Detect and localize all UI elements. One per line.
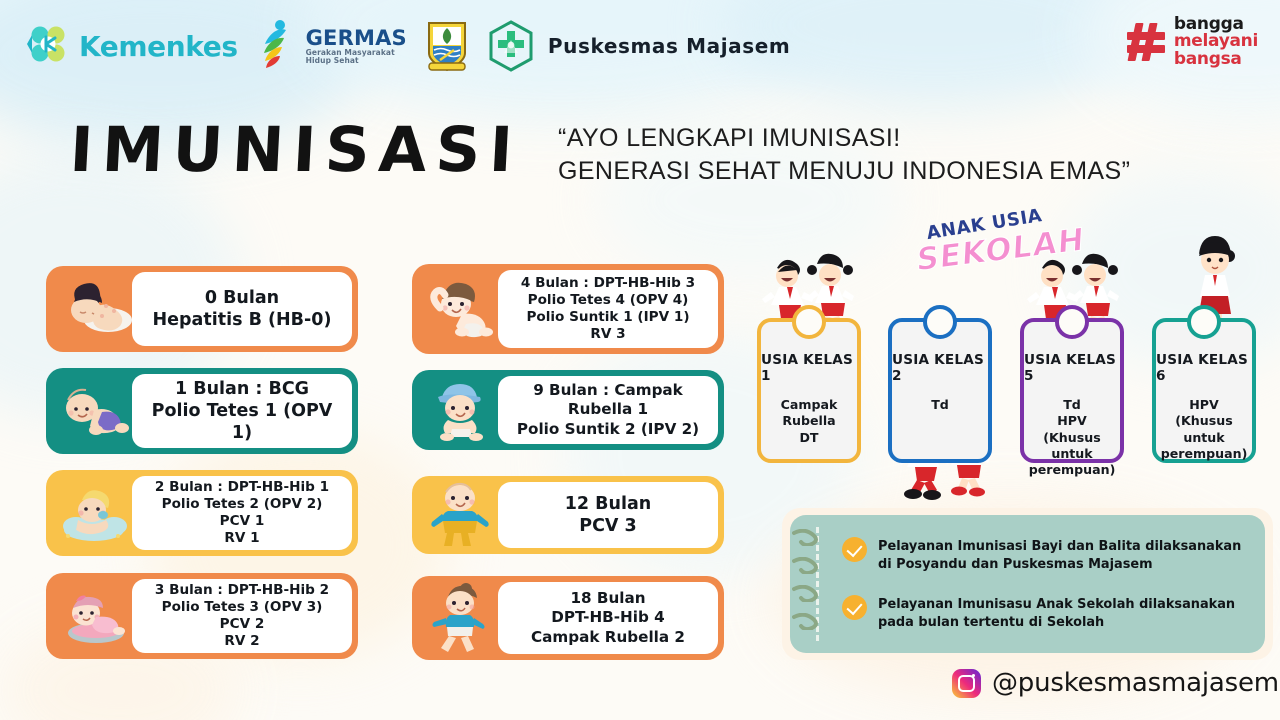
school-card-line: perempuan) [1029,462,1116,478]
card-line: 12 Bulan [565,493,652,515]
card-text-panel: 9 Bulan : Campak Rubella 1Polio Suntik 2… [498,376,718,444]
school-card-title: USIA KELAS 6 [1156,352,1252,384]
instagram-icon [952,669,981,698]
kemenkes-logo: Kemenkes [26,23,238,69]
school-card-line: HPV (Khusus [1161,397,1248,430]
instagram-handle: @puskesmasmajasem [992,668,1279,698]
card-text-panel: 3 Bulan : DPT-HB-Hib 2Polio Tetes 3 (OPV… [132,579,352,653]
school-card-line: HPV (Khusus [1029,413,1116,446]
card-text-panel: 4 Bulan : DPT-HB-Hib 3Polio Tetes 4 (OPV… [498,270,718,348]
card-line: DPT-HB-Hib 4 [531,608,685,627]
spiral-binding-icon [792,529,826,546]
card-line: Polio Tetes 3 (OPV 3) [155,599,329,616]
baby-on-cloud-icon [54,476,138,550]
germas-subtitle-line2: Hidup Sehat [306,57,407,65]
card-knob [792,305,826,339]
puskesmas-name: Puskesmas Majasem [548,34,791,58]
check-circle-icon [842,595,867,620]
imunisasi-poster: Kemenkes GERMAS Gerakan Masyarakat Hidup [0,0,1280,720]
card-line: Polio Tetes 1 (OPV 1) [140,400,344,444]
school-card-line: untuk [1029,446,1116,462]
card-text-panel: 12 BulanPCV 3 [498,482,718,548]
germas-title: GERMAS [306,28,407,49]
card-knob [923,305,957,339]
card-lines: 4 Bulan : DPT-HB-Hib 3Polio Tetes 4 (OPV… [513,275,703,344]
sleeping-baby-icon [54,272,138,346]
card-line: Polio Tetes 4 (OPV 4) [521,292,695,309]
school-card-line: Td [1029,397,1116,413]
germas-logo: GERMAS Gerakan Masyarakat Hidup Sehat [256,18,407,74]
school-card-body: HPV (Khususuntukperempuan) [1156,397,1253,462]
card-line: RV 3 [521,326,695,343]
header: Kemenkes GERMAS Gerakan Masyarakat Hidup [0,0,1280,92]
hash-icon [1126,21,1166,63]
card-line: RV 1 [155,530,329,547]
schedule-card-card-1-bulan: 1 Bulan : BCGPolio Tetes 1 (OPV 1) [46,368,358,454]
school-card-kelas-2: USIA KELAS 2Td [888,318,992,463]
card-knob [1055,305,1089,339]
card-line: Polio Suntik 2 (IPV 2) [506,420,710,439]
germas-text: GERMAS Gerakan Masyarakat Hidup Sehat [306,28,407,65]
schedule-card-card-2-bulan: 2 Bulan : DPT-HB-Hib 1Polio Tetes 2 (OPV… [46,470,358,556]
logo-group: Kemenkes GERMAS Gerakan Masyarakat Hidup [26,14,790,78]
note-item: Pelayanan Imunisasi Bayi dan Balita dila… [842,537,1254,575]
spiral-binding-icon [792,557,826,574]
card-text-panel: 0 BulanHepatitis B (HB-0) [132,272,352,346]
card-line: Polio Suntik 1 (IPV 1) [521,309,695,326]
school-card-kelas-1: USIA KELAS 1CampakRubellaDT [757,318,861,463]
note-text: Pelayanan Imunisasu Anak Sekolah dilaksa… [878,595,1254,633]
school-card-line: Campak [781,397,838,413]
card-line: 4 Bulan : DPT-HB-Hib 3 [521,275,695,292]
schedule-card-card-0-bulan: 0 BulanHepatitis B (HB-0) [46,266,358,352]
school-card-title: USIA KELAS 1 [761,352,857,384]
schedule-card-card-9-bulan: 9 Bulan : Campak Rubella 1Polio Suntik 2… [412,370,724,450]
tagline-line1: “AYO LENGKAPI IMUNISASI! [558,122,1130,155]
germas-figure-icon [256,18,300,74]
card-line: 1 Bulan : BCG [140,378,344,400]
school-card-line: DT [781,430,838,446]
card-lines: 1 Bulan : BCGPolio Tetes 1 (OPV 1) [132,378,352,444]
kemenkes-wordmark: Kemenkes [79,30,238,63]
card-line: Polio Tetes 2 (OPV 2) [155,496,329,513]
crawling-baby-icon [54,374,138,448]
page-title: IMUNISASI [68,113,523,186]
school-card-kelas-5: USIA KELAS 5TdHPV (Khususuntukperempuan) [1020,318,1124,463]
school-card-line: Td [931,397,949,413]
bangga-line3: bangsa [1174,51,1258,68]
card-text-panel: 18 BulanDPT-HB-Hib 4Campak Rubella 2 [498,582,718,654]
schedule-card-card-3-bulan: 3 Bulan : DPT-HB-Hib 2Polio Tetes 3 (OPV… [46,573,358,659]
school-card-body: Td [926,397,954,413]
check-circle-icon [842,537,867,562]
school-card-kelas-6: USIA KELAS 6HPV (Khususuntukperempuan) [1152,318,1256,463]
tagline: “AYO LENGKAPI IMUNISASI! GENERASI SEHAT … [558,122,1130,188]
card-line: 9 Bulan : Campak Rubella 1 [506,381,710,419]
card-line: PCV 3 [565,515,652,537]
schedule-card-card-18-bulan: 18 BulanDPT-HB-Hib 4Campak Rubella 2 [412,576,724,660]
health-cross-hexagon-icon [487,20,535,72]
school-card-body: CampakRubellaDT [776,397,843,446]
spiral-binding-icon [792,585,826,602]
card-lines: 9 Bulan : Campak Rubella 1Polio Suntik 2… [498,381,718,438]
card-knob [1187,305,1221,339]
spiral-binding-icon [792,613,826,630]
school-card-title: USIA KELAS 5 [1024,352,1120,384]
running-toddler-icon [420,582,504,654]
bangga-wordmark: bangga melayani bangsa [1174,16,1258,68]
card-line: RV 2 [155,633,329,650]
note-text: Pelayanan Imunisasi Bayi dan Balita dila… [878,537,1254,575]
card-line: PCV 2 [155,616,329,633]
school-card-body: TdHPV (Khususuntukperempuan) [1024,397,1121,479]
tagline-line2: GENERASI SEHAT MENUJU INDONESIA EMAS” [558,155,1130,188]
card-text-panel: 1 Bulan : BCGPolio Tetes 1 (OPV 1) [132,374,352,448]
card-line: PCV 1 [155,513,329,530]
note-item: Pelayanan Imunisasu Anak Sekolah dilaksa… [842,595,1254,633]
card-line: Hepatitis B (HB-0) [153,309,332,331]
notes-panel: Pelayanan Imunisasi Bayi dan Balita dila… [790,515,1265,653]
card-line: 18 Bulan [531,589,685,608]
baby-with-cap-icon [420,376,504,444]
schedule-card-card-12-bulan: 12 BulanPCV 3 [412,476,724,554]
card-lines: 2 Bulan : DPT-HB-Hib 1Polio Tetes 2 (OPV… [147,479,337,548]
instagram-footer[interactable]: @puskesmasmajasem [952,668,1279,698]
school-card-line: Rubella [781,413,838,429]
school-card-title: USIA KELAS 2 [892,352,988,384]
card-lines: 12 BulanPCV 3 [557,493,660,537]
card-line: 2 Bulan : DPT-HB-Hib 1 [155,479,329,496]
school-card-line: perempuan) [1161,446,1248,462]
card-line: 0 Bulan [153,287,332,309]
baby-girl-pink-icon [54,579,138,653]
waving-baby-icon [420,270,504,348]
kemenkes-mark-icon [26,23,72,69]
bangga-melayani-bangsa-logo: bangga melayani bangsa [1126,16,1258,68]
puskesmas-logo: Puskesmas Majasem [487,20,791,72]
schedule-card-card-4-bulan: 4 Bulan : DPT-HB-Hib 3Polio Tetes 4 (OPV… [412,264,724,354]
kota-bandung-crest-icon [425,19,469,73]
school-card-line: untuk [1161,430,1248,446]
card-lines: 18 BulanDPT-HB-Hib 4Campak Rubella 2 [523,589,693,646]
card-text-panel: 2 Bulan : DPT-HB-Hib 1Polio Tetes 2 (OPV… [132,476,352,550]
card-line: 3 Bulan : DPT-HB-Hib 2 [155,582,329,599]
card-line: Campak Rubella 2 [531,628,685,647]
card-lines: 3 Bulan : DPT-HB-Hib 2Polio Tetes 3 (OPV… [147,582,337,651]
card-lines: 0 BulanHepatitis B (HB-0) [145,287,340,331]
toddler-blue-shirt-icon [420,482,504,548]
